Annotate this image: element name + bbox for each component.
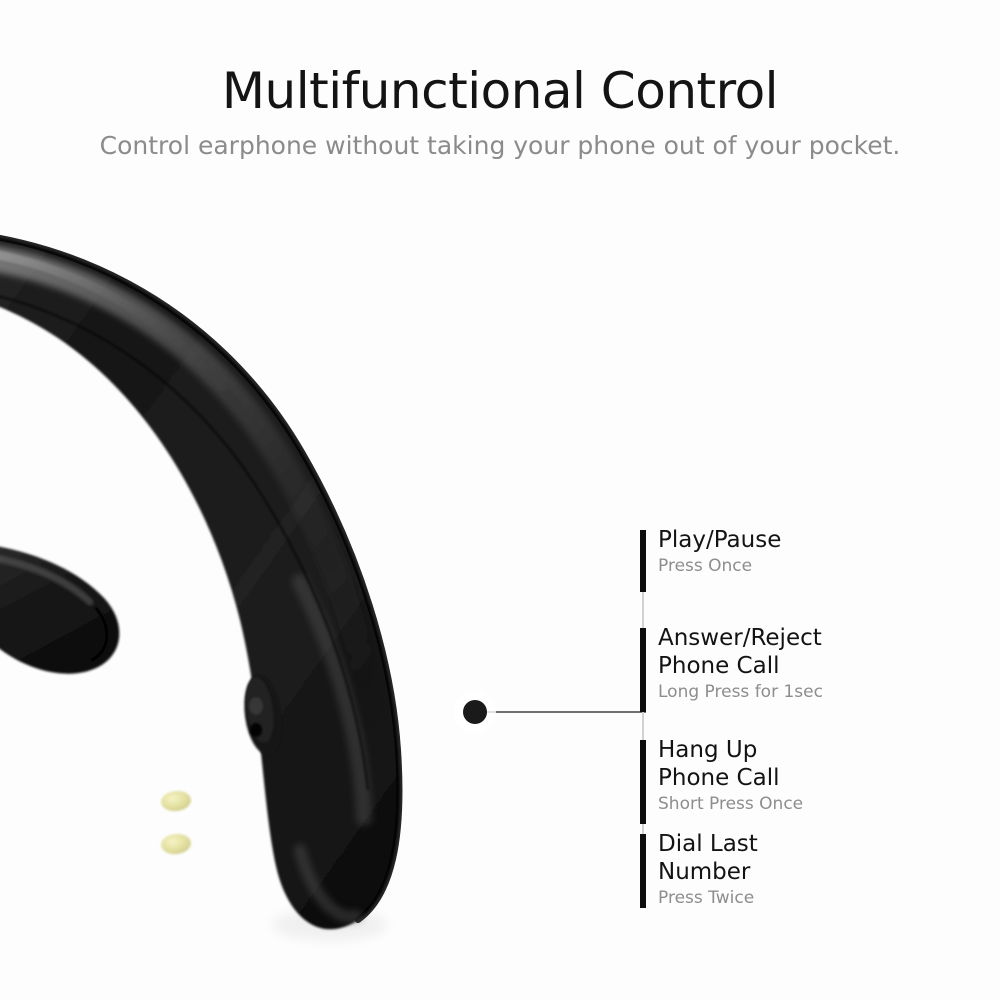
page-title: Multifunctional Control (0, 0, 1000, 116)
callout-label-line1: Answer/Reject (658, 624, 958, 652)
callout-hint: Short Press Once (658, 792, 958, 816)
product-feature-slide: Multifunctional Control Control earphone… (0, 0, 1000, 1000)
charging-contacts (160, 789, 192, 855)
callout-bar (640, 530, 646, 592)
callout-hint: Press Twice (658, 886, 958, 910)
callout-bar (640, 740, 646, 824)
callout-label-line2: Phone Call (658, 652, 958, 680)
callout-label-line2: Number (658, 858, 958, 886)
callout-hint: Press Once (658, 554, 958, 578)
callout-label: Play/Pause (658, 526, 958, 554)
product-image (0, 190, 560, 980)
callout-bar (640, 628, 646, 712)
charging-contact-upper (160, 789, 192, 812)
callout-label-line1: Dial Last (658, 830, 958, 858)
ear-hook-arm (0, 540, 119, 674)
header: Multifunctional Control Control earphone… (0, 0, 1000, 158)
callout-label-line1: Hang Up (658, 736, 958, 764)
page-subtitle: Control earphone without taking your pho… (0, 116, 1000, 158)
charging-contact-lower (160, 832, 192, 855)
callout-label-line2: Phone Call (658, 764, 958, 792)
callout-hint: Long Press for 1sec (658, 680, 958, 704)
callout-bar (640, 834, 646, 908)
